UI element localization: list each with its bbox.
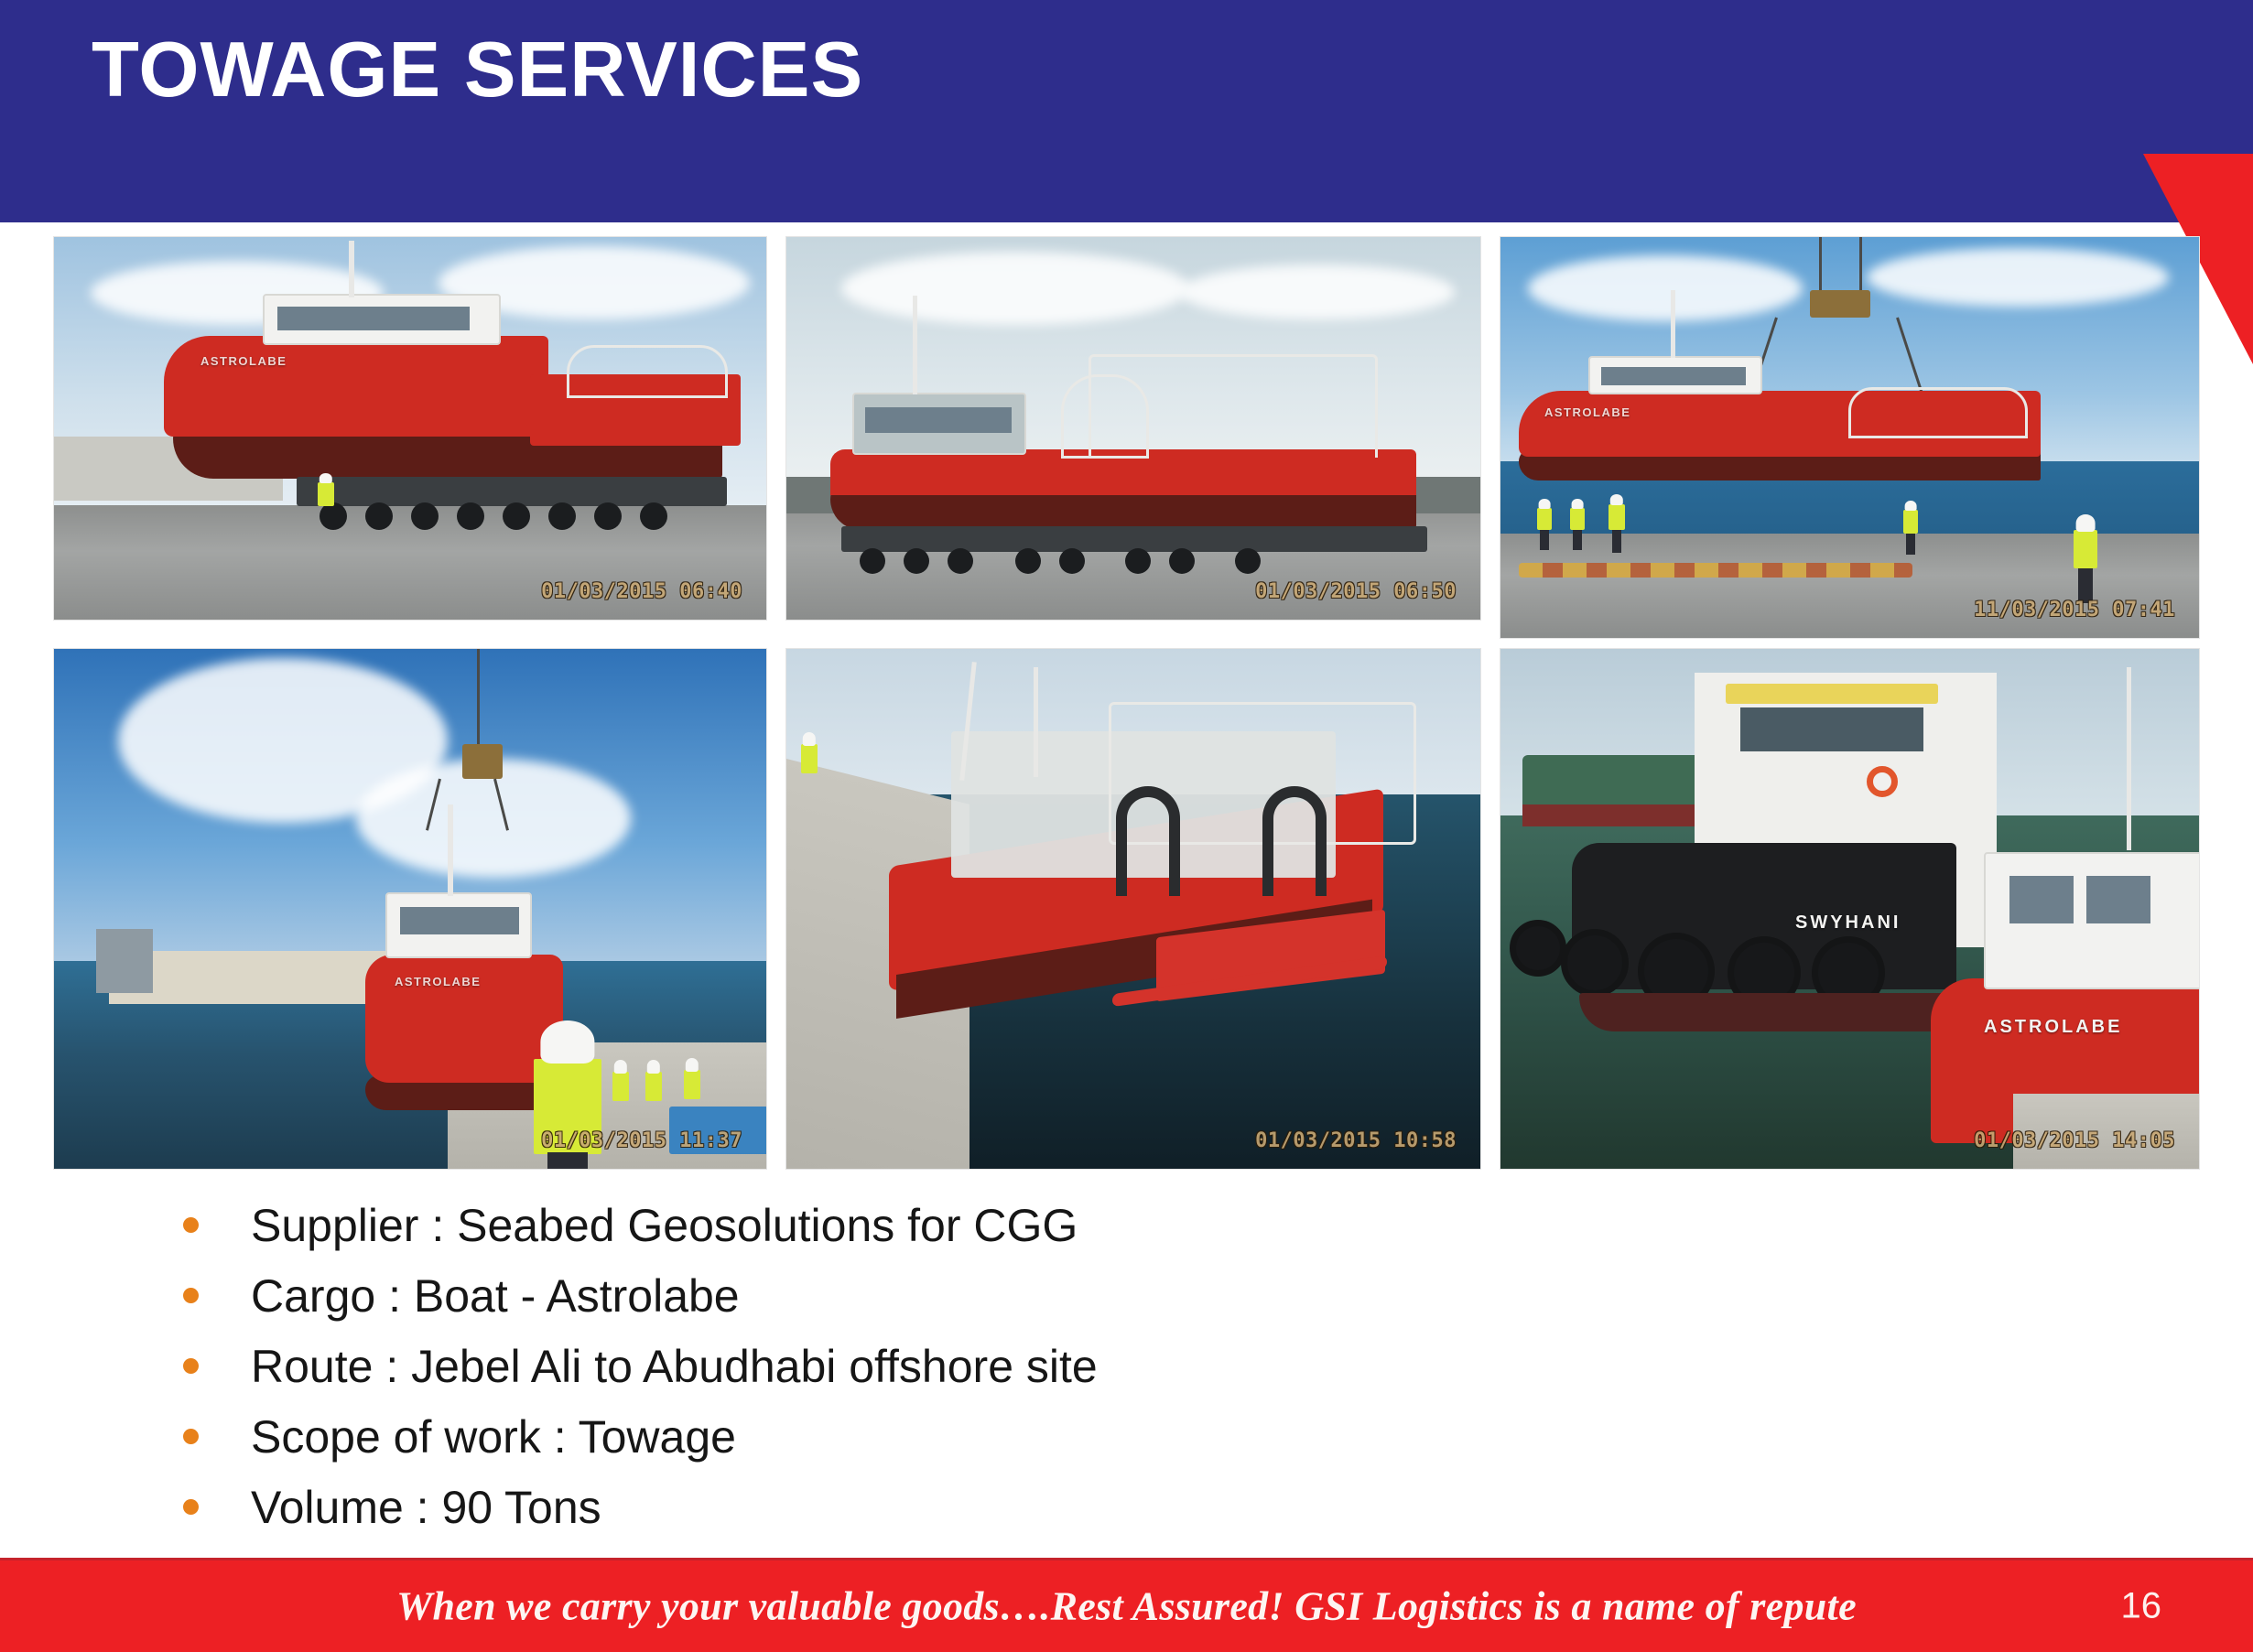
worker-hivis (684, 1070, 700, 1099)
worker-hivis (1537, 508, 1552, 530)
photo-timestamp: 01/03/2015 06:40 (541, 580, 742, 603)
bullet-dot-icon (183, 1358, 199, 1374)
bullet-label: Volume : 90 Tons (251, 1485, 601, 1530)
bullet-item-cargo: Cargo : Boat - Astrolabe (183, 1260, 1923, 1331)
trailer-wheel (904, 548, 929, 574)
worker-hivis (612, 1072, 629, 1101)
transporter-wheel (320, 502, 347, 530)
mast (1671, 290, 1675, 358)
hard-hat (1572, 499, 1584, 509)
deck-gear (567, 345, 728, 398)
photo-timestamp: 11/03/2015 07:41 (1974, 599, 2175, 621)
bullet-dot-icon (183, 1217, 199, 1233)
trailer-wheel (1059, 548, 1085, 574)
hard-hat (320, 473, 332, 484)
tug-name-label: SWYHANI (1795, 912, 1901, 934)
hard-hat (1610, 494, 1623, 506)
photo-timestamp: 01/03/2015 11:37 (541, 1129, 742, 1152)
cloud (1867, 248, 2169, 307)
trailer-wheel (948, 548, 973, 574)
bullet-label: Supplier : Seabed Geosolutions for CGG (251, 1203, 1078, 1248)
bullet-label: Route : Jebel Ali to Abudhabi offshore s… (251, 1344, 1098, 1389)
transporter-deck (297, 477, 727, 506)
photo-crane-lift-over-water[interactable]: ASTROLABE 11/03/2015 07:41 (1500, 236, 2200, 639)
lifebuoy (1867, 766, 1898, 797)
cloud (1528, 255, 1803, 321)
mast (448, 804, 453, 896)
bullet-label: Scope of work : Towage (251, 1414, 736, 1460)
trailer-wheel (1169, 548, 1195, 574)
trailer-wheel (1125, 548, 1151, 574)
deck-gear (1848, 387, 2028, 438)
transporter-wheel (594, 502, 622, 530)
crane-hook-block (462, 744, 503, 779)
hard-hat (1905, 501, 1917, 512)
bullet-item-route: Route : Jebel Ali to Abudhabi offshore s… (183, 1331, 1923, 1401)
worker-legs (1540, 530, 1549, 550)
deck-crane-hose (1116, 786, 1180, 896)
boat-name-label: ASTROLABE (1544, 405, 1630, 419)
bullet-item-supplier: Supplier : Seabed Geosolutions for CGG (183, 1190, 1923, 1260)
boat-name-label: ASTROLABE (395, 975, 481, 988)
mast (349, 241, 354, 297)
tug-yellow-roof (1726, 684, 1938, 704)
hard-hat (540, 1020, 594, 1064)
hard-hat (2076, 514, 2096, 532)
worker-legs (547, 1152, 588, 1170)
boat-name-label: ASTROLABE (1984, 1017, 2122, 1038)
crane-cable (477, 649, 480, 750)
worker-legs (1612, 530, 1622, 553)
tyre-fender (1510, 920, 1566, 977)
wheelhouse-window (277, 307, 470, 330)
transporter-wheel (411, 502, 439, 530)
astrolabe-window (2009, 876, 2074, 923)
hard-hat (803, 732, 816, 745)
crane-hook-block (1810, 290, 1870, 318)
worker-legs (1573, 530, 1582, 550)
deck-crane-hose (1262, 786, 1327, 896)
transporter-wheel (365, 502, 393, 530)
bullet-dot-icon (183, 1288, 199, 1303)
cloud (841, 252, 1189, 325)
photo-tug-and-astrolabe[interactable]: SWYHANI ASTROLABE 01/03/2015 14:05 (1500, 648, 2200, 1170)
cloud (1180, 265, 1455, 319)
transporter-wheel (457, 502, 484, 530)
page-number: 16 (2121, 1586, 2162, 1627)
photo-vessel-alongside-quay[interactable]: 01/03/2015 10:58 (785, 648, 1481, 1170)
photo-boat-on-spmt-side[interactable]: ASTROLABE 01/03/2015 06:40 (53, 236, 767, 621)
worker-hivis (1903, 510, 1918, 534)
photo-boat-lowering-supervisor[interactable]: ASTROLABE 01/03/2015 11:37 (53, 648, 767, 1170)
worker-hivis (1570, 508, 1585, 530)
tyre-fender (1561, 929, 1629, 997)
bullet-dot-icon (183, 1499, 199, 1515)
footer-band: When we carry your valuable goods….Rest … (0, 1558, 2253, 1652)
trailer-wheel (1015, 548, 1041, 574)
hard-hat (647, 1060, 660, 1073)
photo-boat-on-trailer-rear[interactable]: 01/03/2015 06:50 (785, 236, 1481, 621)
hard-hat (1539, 499, 1551, 509)
worker-legs (1906, 534, 1915, 555)
bullet-label: Cargo : Boat - Astrolabe (251, 1273, 740, 1319)
hard-hat (686, 1058, 699, 1071)
tug-bridge-window (1740, 707, 1923, 751)
photo-timestamp: 01/03/2015 14:05 (1974, 1129, 2175, 1152)
photo-gallery: ASTROLABE 01/03/2015 06:40 01/03/2015 06… (53, 236, 2200, 1170)
bullet-item-scope-of-work: Scope of work : Towage (183, 1401, 1923, 1472)
wheelhouse-window (400, 907, 519, 934)
footer-tagline: When we carry your valuable goods….Rest … (0, 1583, 2253, 1630)
hard-hat (614, 1060, 627, 1073)
page-title: TOWAGE SERVICES (92, 31, 863, 109)
worker-hivis (318, 482, 334, 506)
trailer-wheel (1235, 548, 1261, 574)
bullet-item-volume: Volume : 90 Tons (183, 1472, 1923, 1542)
background-building (96, 929, 153, 993)
transporter-wheel (503, 502, 530, 530)
astrolabe-mast (2127, 667, 2131, 850)
worker-hivis (645, 1072, 662, 1101)
transporter-wheel (548, 502, 576, 530)
wheelhouse-window (865, 407, 1012, 433)
trailer-wheel (860, 548, 885, 574)
worker-hivis (1609, 504, 1625, 530)
mast (1034, 667, 1038, 777)
bullet-dot-icon (183, 1429, 199, 1444)
boat-name-label: ASTROLABE (200, 354, 287, 368)
photo-timestamp: 01/03/2015 06:50 (1255, 580, 1457, 603)
photo-timestamp: 01/03/2015 10:58 (1255, 1129, 1457, 1152)
mast (913, 296, 917, 394)
boat-hull (164, 336, 548, 437)
transporter-wheel (640, 502, 667, 530)
astrolabe-window (2086, 876, 2150, 923)
tug-waterline (1579, 993, 1955, 1031)
wheelhouse-window (1601, 367, 1746, 385)
worker-hivis (2074, 530, 2097, 568)
deck-gear-davit (1061, 374, 1149, 459)
bullet-list: Supplier : Seabed Geosolutions for CGG C… (183, 1190, 1923, 1542)
lifting-slings-on-ground (1519, 563, 1912, 578)
worker-hivis (801, 744, 818, 773)
